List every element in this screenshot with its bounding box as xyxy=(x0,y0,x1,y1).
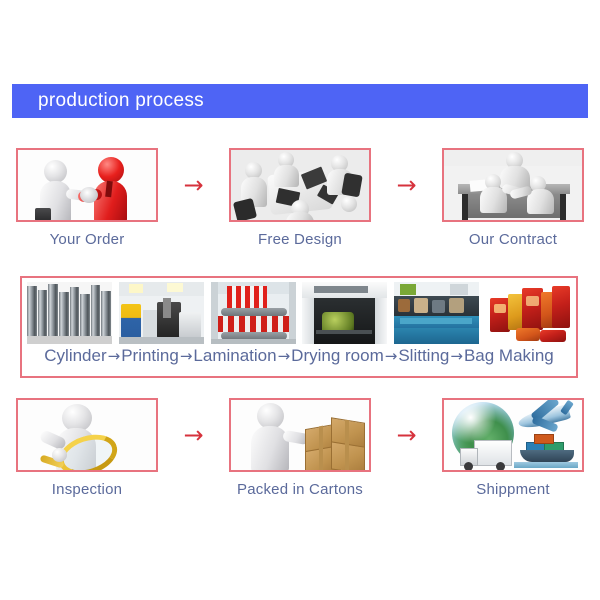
arrow-right-icon: → xyxy=(396,423,416,447)
finished-bags-photo xyxy=(486,282,571,344)
arrow-right-icon: → xyxy=(179,347,194,365)
arrow-cell: → xyxy=(384,398,430,472)
step-packed-in-cartons[interactable]: Packed in Cartons xyxy=(225,398,375,498)
step-free-design[interactable]: Free Design xyxy=(225,148,375,248)
handshake-photo xyxy=(16,148,158,222)
step-label: Free Design xyxy=(258,231,342,248)
page-title-bar: production process xyxy=(12,84,588,118)
step-label: Your Order xyxy=(50,231,125,248)
arrow-right-icon: → xyxy=(384,347,399,365)
step-label: Inspection xyxy=(52,481,122,498)
production-stage-band: Cylinder → Printing → Lamination → Dryin… xyxy=(20,276,578,378)
step-label: Our Contract xyxy=(469,231,557,248)
band-thumbnail-strip xyxy=(27,282,571,344)
arrow-right-icon: → xyxy=(449,347,464,365)
arrow-right-icon: → xyxy=(107,347,122,365)
arrow-cell: → xyxy=(171,398,217,472)
step-our-contract[interactable]: Our Contract xyxy=(438,148,588,248)
step-your-order[interactable]: Your Order xyxy=(12,148,162,248)
step-label: Packed in Cartons xyxy=(237,481,363,498)
band-label-row: Cylinder → Printing → Lamination → Dryin… xyxy=(27,346,571,366)
band-step-label-printing: Printing xyxy=(121,346,179,366)
band-step-label-lamination: Lamination xyxy=(193,346,276,366)
global-shipping-photo xyxy=(442,398,584,472)
contract-signing-photo xyxy=(442,148,584,222)
arrow-right-icon: → xyxy=(277,347,292,365)
band-step-label-bag-making: Bag Making xyxy=(464,346,554,366)
step-label: Shippment xyxy=(476,481,550,498)
production-process-infographic: production process xyxy=(0,0,600,600)
arrow-cell: → xyxy=(384,148,430,222)
arrow-right-icon: → xyxy=(183,423,203,447)
band-step-label-drying-room: Drying room xyxy=(291,346,384,366)
gravure-cylinders-photo xyxy=(27,282,112,344)
carton-packing-photo xyxy=(229,398,371,472)
slitting-machine-photo xyxy=(394,282,479,344)
arrow-cell: → xyxy=(171,148,217,222)
drying-room-photo xyxy=(302,282,387,344)
process-row-bottom: Inspection → xyxy=(12,398,588,498)
inspection-magnifier-photo xyxy=(16,398,158,472)
design-meeting-photo xyxy=(229,148,371,222)
band-step-label-slitting: Slitting xyxy=(398,346,449,366)
step-shipment[interactable]: Shippment xyxy=(438,398,588,498)
arrow-right-icon: → xyxy=(183,173,203,197)
step-inspection[interactable]: Inspection xyxy=(12,398,162,498)
page-title: production process xyxy=(12,90,204,112)
lamination-machine-photo xyxy=(211,282,296,344)
arrow-right-icon: → xyxy=(396,173,416,197)
band-step-label-cylinder: Cylinder xyxy=(44,346,106,366)
printing-press-photo xyxy=(119,282,204,344)
process-row-top: Your Order → xyxy=(12,148,588,248)
